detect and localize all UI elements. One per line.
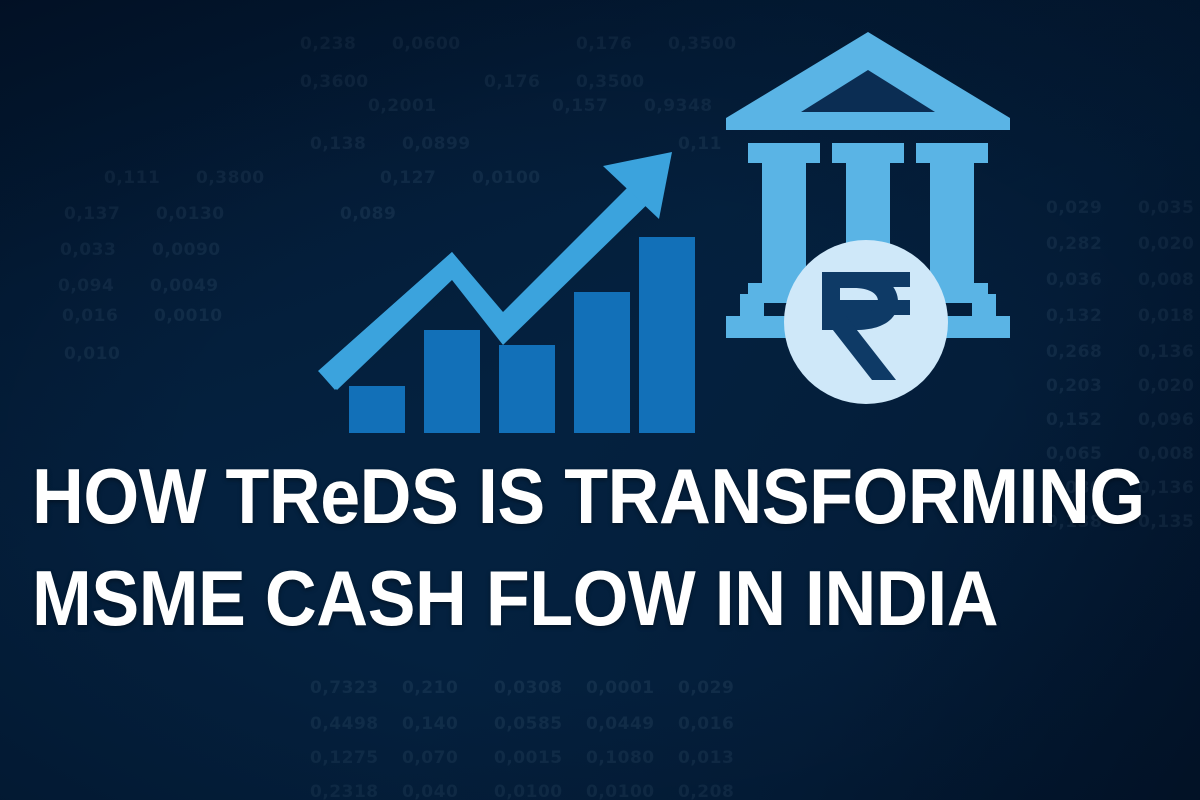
headline-block: HOW TReDS IS TRANSFORMING MSME CASH FLOW… <box>32 452 1162 642</box>
poster-canvas: 0,2380,06000,1760,35000,36000,1760,35000… <box>0 0 1200 800</box>
background-vignette <box>0 0 1200 800</box>
headline-line-2: MSME CASH FLOW IN INDIA <box>32 554 1072 642</box>
headline-line-1: HOW TReDS IS TRANSFORMING <box>32 452 1072 540</box>
